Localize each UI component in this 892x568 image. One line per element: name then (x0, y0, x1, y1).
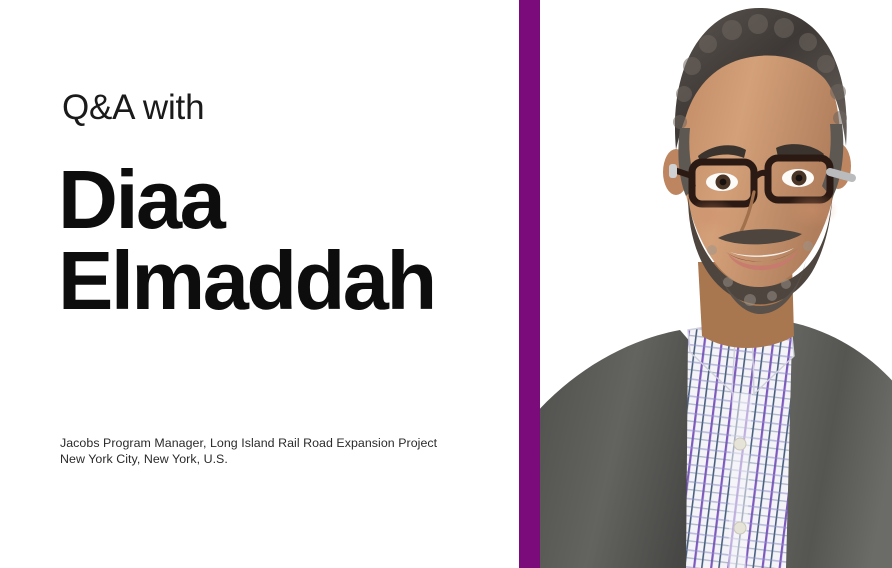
headline-last-name: Elmaddah (58, 241, 518, 322)
text-column: Q&A with Diaa Elmaddah Jacobs Program Ma… (0, 0, 519, 568)
page-title: Diaa Elmaddah (58, 160, 518, 321)
shirt-button-upper (734, 438, 746, 450)
pupil-left (720, 179, 727, 186)
headline-first-name: Diaa (58, 160, 518, 241)
role-caption: Jacobs Program Manager, Long Island Rail… (60, 435, 510, 468)
portrait-photo (540, 0, 892, 568)
shirt-button-lower (734, 522, 746, 534)
portrait-illustration (540, 0, 892, 568)
caption-role-line: Jacobs Program Manager, Long Island Rail… (60, 435, 510, 451)
caption-location-line: New York City, New York, U.S. (60, 451, 510, 467)
eyebrow-label: Q&A with (62, 88, 204, 128)
qa-profile-slide: Q&A with Diaa Elmaddah Jacobs Program Ma… (0, 0, 892, 568)
pupil-right (796, 175, 803, 182)
cheek-right (786, 192, 838, 228)
purple-accent-bar (519, 0, 540, 568)
